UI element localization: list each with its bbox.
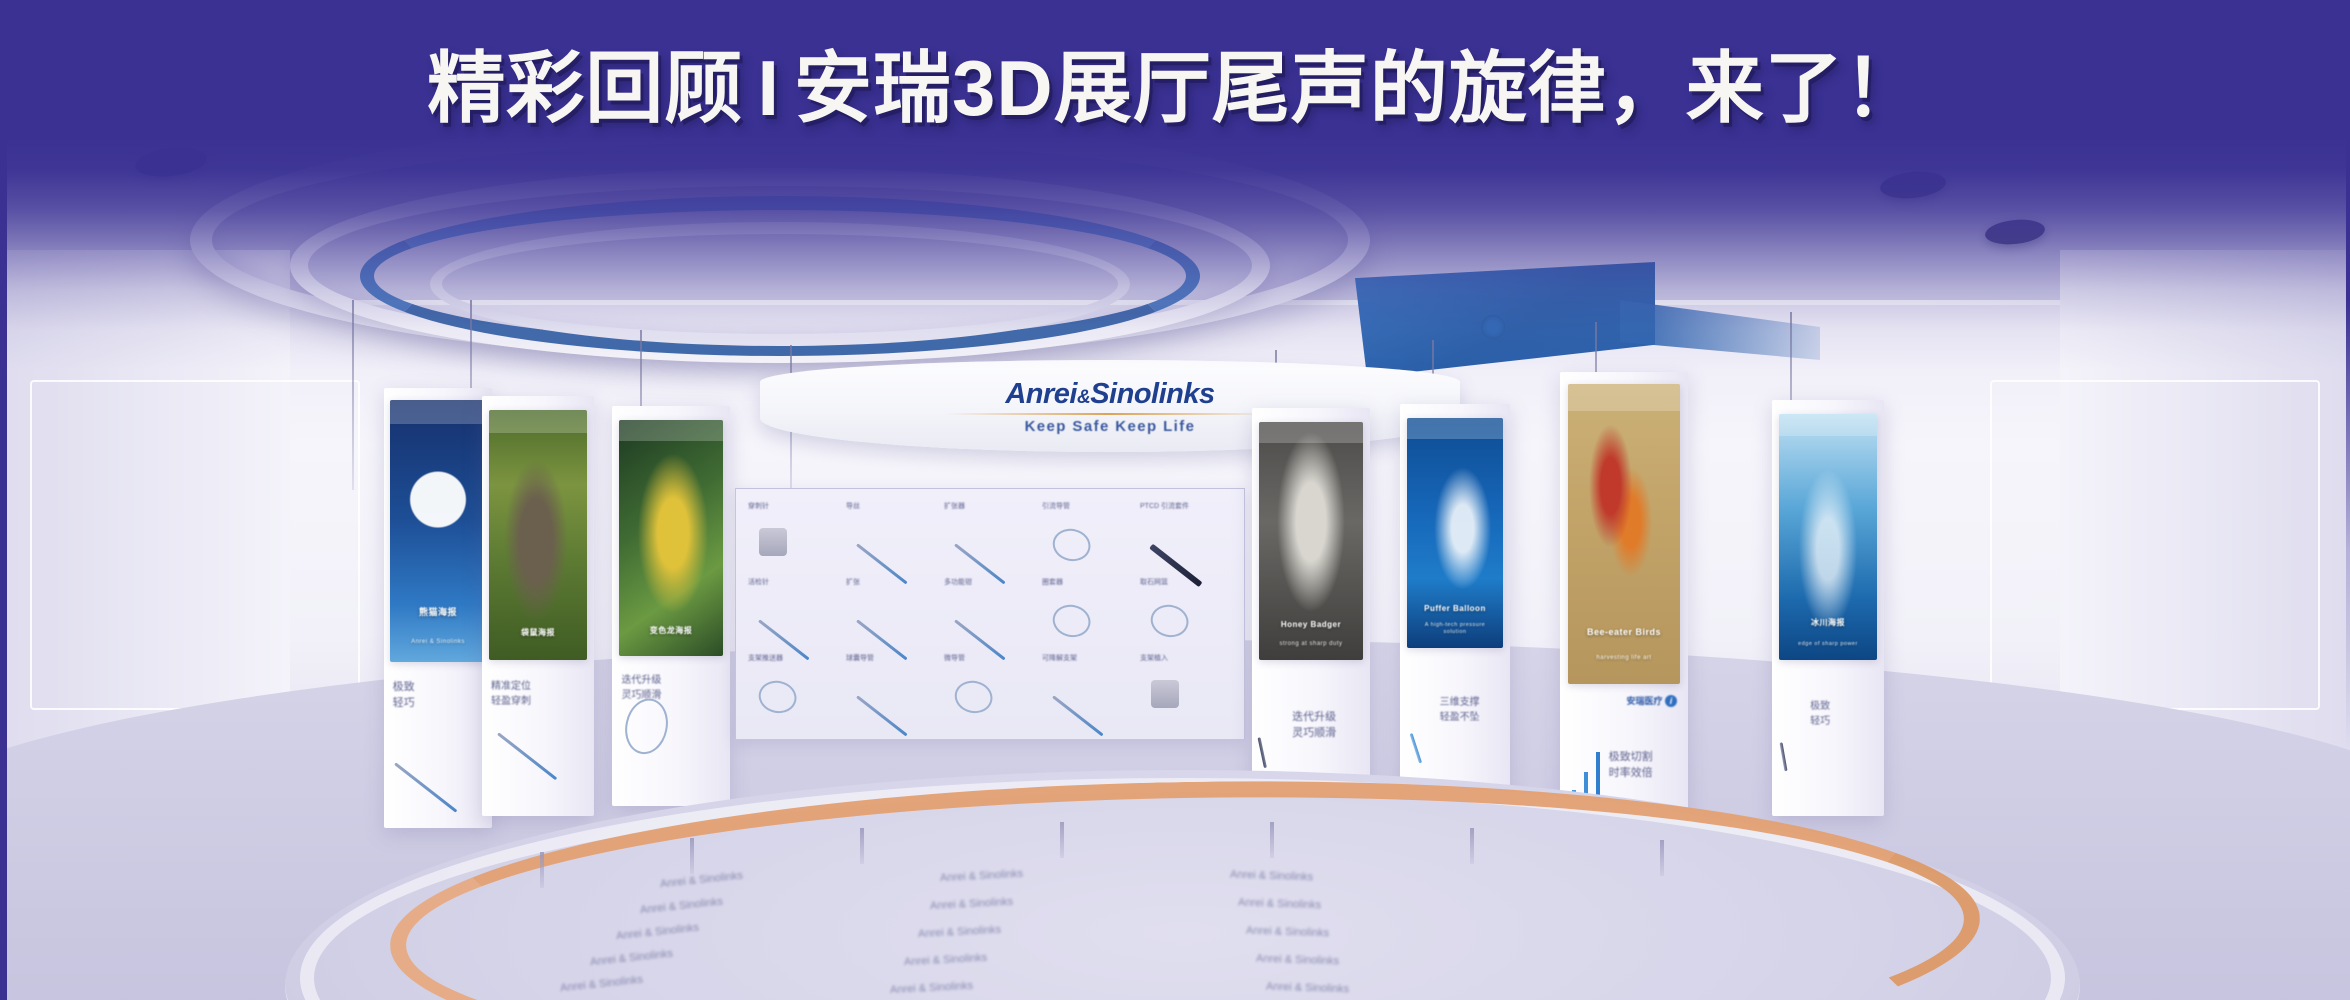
floor-text-row: Anrei & Sinolinks [904,952,988,968]
rail-post [1060,822,1064,858]
title-part-1: 精彩回顾 [427,44,743,132]
floor-text-row: Anrei & Sinolinks [1230,869,1314,884]
floor-text-row: Anrei & Sinolinks [1238,897,1322,912]
floor-text-row: Anrei & Sinolinks [1266,981,1350,996]
floor-text-row: Anrei & Sinolinks [640,896,724,917]
rail-post [540,852,544,888]
floor-text-row: Anrei & Sinolinks [616,922,700,943]
rail-post [1470,828,1474,864]
left-edge-strip [0,0,7,1000]
rail-post [1270,822,1274,858]
floor-text-row: Anrei & Sinolinks [590,948,674,969]
page-title: 精彩回顾I安瑞3D展厅尾声的旋律，来了！ [0,26,2350,138]
floor-text-row: Anrei & Sinolinks [940,868,1024,884]
floor-text-row: Anrei & Sinolinks [660,870,744,891]
rail-post [690,838,694,874]
showroom-render: 熊猫海报 Anrei & Sinolinks 极致 轻巧 袋鼠海报 精准定位 轻… [0,0,2350,1000]
floor-text-row: Anrei & Sinolinks [560,974,644,995]
title-part-2: 安瑞3D展厅尾声的旋律，来了！ [794,44,1923,132]
floor-text-row: Anrei & Sinolinks [918,924,1002,940]
rail-post [860,828,864,864]
rail-post [1660,840,1664,876]
floor-text-block: Anrei & Sinolinks Anrei & Sinolinks Anre… [0,58,2350,1000]
right-edge-strip [2346,0,2350,1000]
banner-image: 熊猫海报 Anrei & Sinolinks 极致 轻巧 袋鼠海报 精准定位 轻… [0,0,2350,1000]
floor-text-row: Anrei & Sinolinks [930,896,1014,912]
floor-text-row: Anrei & Sinolinks [890,980,974,996]
title-separator: I [743,44,794,132]
floor-text-row: Anrei & Sinolinks [1256,953,1340,968]
floor-text-row: Anrei & Sinolinks [1246,925,1330,940]
